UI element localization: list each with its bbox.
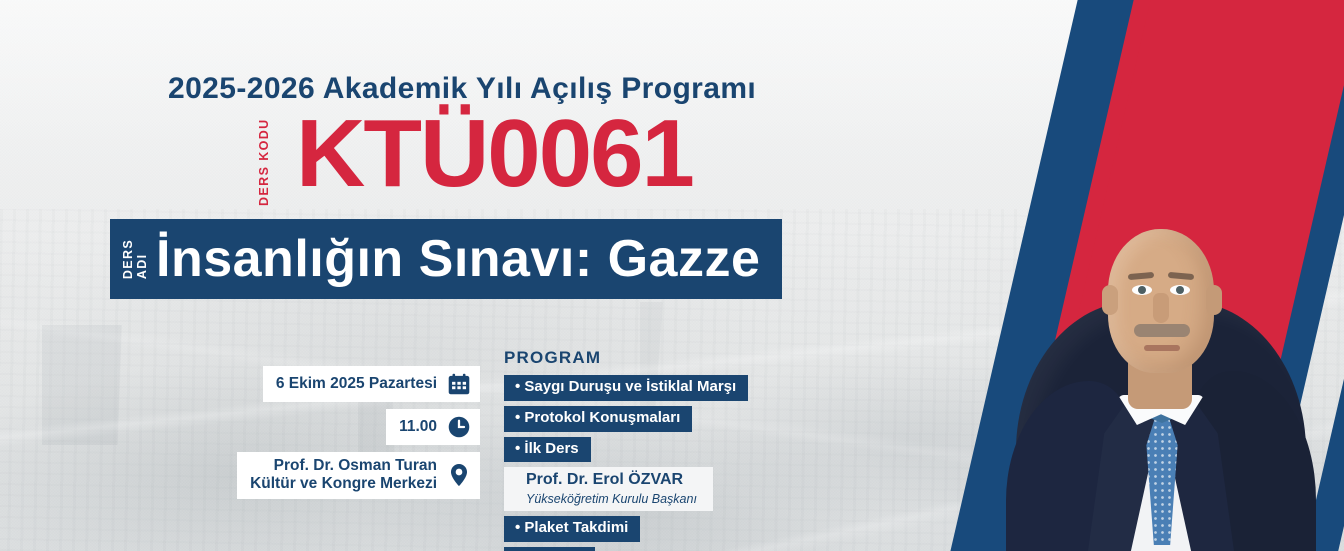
portrait-nose [1153, 293, 1169, 323]
calendar-icon [446, 371, 472, 397]
event-time-box: 11.00 [386, 409, 480, 445]
speaker-role: Yükseköğretim Kurulu Başkanı [526, 491, 697, 507]
event-details: 6 Ekim 2025 Pazartesi 11.00 [180, 366, 480, 499]
speaker-name: Prof. Dr. Erol ÖZVAR [526, 470, 697, 491]
clock-icon [446, 414, 472, 440]
course-code-label: DERS KODU [258, 118, 271, 206]
program-item-4: • Plaket Takdimi [504, 516, 640, 542]
portrait-moustache [1134, 324, 1190, 337]
event-date-box: 6 Ekim 2025 Pazartesi [263, 366, 480, 402]
portrait-ear-right [1206, 285, 1222, 315]
event-date-text: 6 Ekim 2025 Pazartesi [276, 375, 437, 393]
speaker-portrait [1010, 0, 1310, 551]
portrait-eye-left [1132, 285, 1152, 295]
program-heading: PROGRAM [504, 348, 601, 368]
portrait-ear-left [1102, 285, 1118, 315]
event-venue-text: Prof. Dr. Osman Turan Kültür ve Kongre M… [250, 457, 437, 494]
course-code-value: KTÜ0061 [296, 106, 693, 202]
program-item-1: • Saygı Duruşu ve İstiklal Marşı [504, 375, 748, 401]
program-item-5: • Kapanış [504, 547, 595, 551]
course-name-bar: DERS ADI İnsanlığın Sınavı: Gazze [110, 219, 782, 299]
portrait-mouth [1144, 345, 1180, 351]
program-item-2: • Protokol Konuşmaları [504, 406, 692, 432]
course-name-value: İnsanlığın Sınavı: Gazze [156, 233, 760, 285]
program-list: PROGRAM • Saygı Duruşu ve İstiklal Marşı… [504, 348, 748, 551]
event-venue-box: Prof. Dr. Osman Turan Kültür ve Kongre M… [237, 452, 480, 499]
program-item-3: • İlk Ders [504, 437, 591, 463]
portrait-eye-right [1170, 285, 1190, 295]
event-banner: 2025-2026 Akademik Yılı Açılış Programı … [0, 0, 1344, 551]
course-name-label: DERS ADI [121, 239, 149, 279]
program-speaker: Prof. Dr. Erol ÖZVAR Yükseköğretim Kurul… [504, 467, 713, 511]
location-pin-icon [446, 462, 472, 488]
event-time-text: 11.00 [399, 418, 437, 436]
